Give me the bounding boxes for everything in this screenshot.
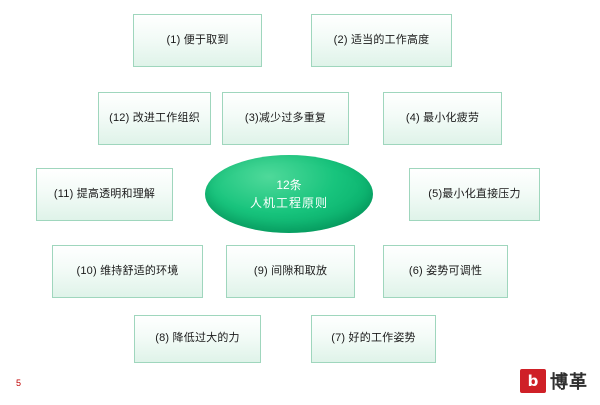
- center-title-line1: 12条: [276, 176, 301, 194]
- node-7[interactable]: (7) 好的工作姿势: [311, 315, 436, 363]
- logo-mark-icon: b: [520, 369, 546, 393]
- node-10[interactable]: (10) 维持舒适的环境: [52, 245, 203, 298]
- node-11-label: (11) 提高透明和理解: [50, 188, 159, 202]
- node-12[interactable]: (12) 改进工作组织: [98, 92, 211, 145]
- node-9-label: (9) 间隙和取放: [250, 265, 331, 279]
- brand-logo: b 博革: [520, 368, 588, 394]
- page-number: 5: [16, 378, 21, 388]
- node-3[interactable]: (3)减少过多重复: [222, 92, 349, 145]
- node-9[interactable]: (9) 间隙和取放: [226, 245, 355, 298]
- node-8[interactable]: (8) 降低过大的力: [134, 315, 261, 363]
- node-11[interactable]: (11) 提高透明和理解: [36, 168, 173, 221]
- node-12-label: (12) 改进工作组织: [105, 112, 204, 126]
- node-6-label: (6) 姿势可调性: [405, 265, 486, 279]
- node-1-label: (1) 便于取到: [162, 34, 232, 48]
- node-2-label: (2) 适当的工作高度: [330, 34, 434, 48]
- node-6[interactable]: (6) 姿势可调性: [383, 245, 508, 298]
- node-4[interactable]: (4) 最小化疲劳: [383, 92, 502, 145]
- node-5-label: (5)最小化直接压力: [424, 188, 524, 202]
- node-7-label: (7) 好的工作姿势: [327, 332, 420, 346]
- node-8-label: (8) 降低过大的力: [151, 332, 244, 346]
- center-title-line2: 人机工程原则: [250, 194, 328, 212]
- node-5[interactable]: (5)最小化直接压力: [409, 168, 540, 221]
- node-10-label: (10) 维持舒适的环境: [72, 265, 182, 279]
- logo-text: 博革: [550, 368, 588, 394]
- slide-canvas: (1) 便于取到 (2) 适当的工作高度 (12) 改进工作组织 (3)减少过多…: [0, 0, 600, 405]
- center-ellipse[interactable]: 12条 人机工程原则: [205, 155, 373, 233]
- node-4-label: (4) 最小化疲劳: [402, 112, 483, 126]
- node-2[interactable]: (2) 适当的工作高度: [311, 14, 452, 67]
- node-3-label: (3)减少过多重复: [241, 112, 330, 126]
- node-1[interactable]: (1) 便于取到: [133, 14, 262, 67]
